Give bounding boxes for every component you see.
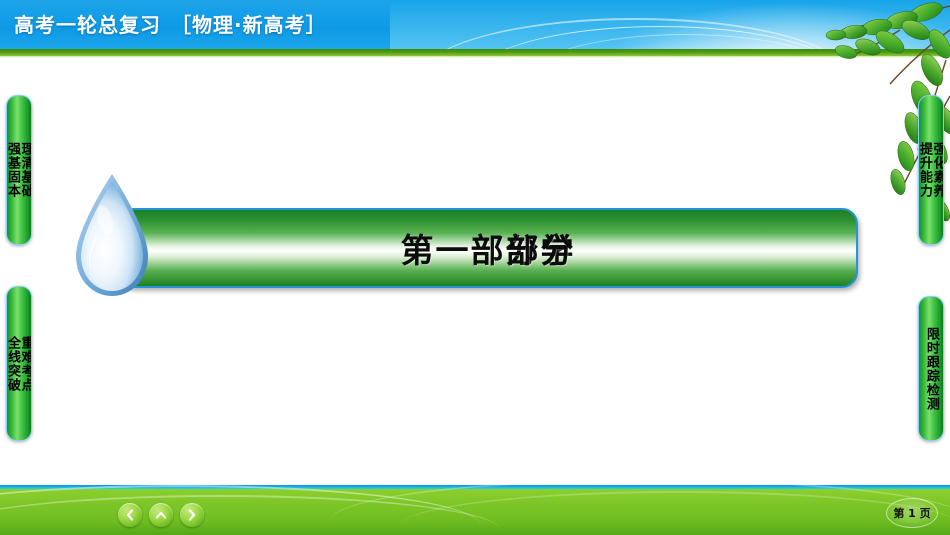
sidebar-item-label: 限时跟踪检测 — [924, 327, 938, 411]
section-title-text-wrap: 第一部分学 部分 — [120, 210, 856, 286]
sidebar-item-label: 重难考点 全线突破 — [6, 336, 32, 392]
slide-navigation — [118, 503, 204, 527]
slide-footer: 第 1 页 — [0, 485, 950, 535]
section-title-stack: 第一部分学 部分 — [401, 224, 576, 272]
chevron-right-icon — [186, 509, 198, 521]
water-droplet-icon — [62, 166, 162, 306]
chevron-up-icon — [155, 509, 167, 521]
header-green-divider — [0, 49, 950, 56]
page-title-subject: ［物理·新高考］ — [171, 13, 327, 37]
sidebar-item-liqing-jichu[interactable]: 理清基础 强基固本 — [6, 95, 32, 245]
section-title-banner: 第一部分学 部分 — [118, 208, 858, 288]
header-green-divider-highlight — [0, 56, 950, 58]
sidebar-item-qianghua-suyang[interactable]: 强化素养 提升能力 — [918, 95, 944, 245]
section-title-overlay: 部分 — [401, 224, 576, 272]
sidebar-item-label: 理清基础 强基固本 — [6, 142, 32, 198]
chevron-left-icon — [124, 509, 136, 521]
footer-band: 第 1 页 — [0, 489, 950, 535]
page-title-main: 高考一轮总复习 — [14, 13, 161, 37]
slide-header: 高考一轮总复习［物理·新高考］ — [0, 0, 950, 49]
sidebar-item-label: 强化素养 提升能力 — [918, 142, 944, 198]
page-number-badge: 第 1 页 — [886, 498, 938, 528]
page-title: 高考一轮总复习［物理·新高考］ — [14, 9, 327, 38]
sidebar-item-zhongnan-kaodian[interactable]: 重难考点 全线突破 — [6, 286, 32, 441]
nav-next-button[interactable] — [180, 503, 204, 527]
nav-up-button[interactable] — [149, 503, 173, 527]
nav-previous-button[interactable] — [118, 503, 142, 527]
page-number-label: 第 1 页 — [893, 505, 930, 521]
sidebar-item-xianshi-genzong[interactable]: 限时跟踪检测 — [918, 296, 944, 441]
